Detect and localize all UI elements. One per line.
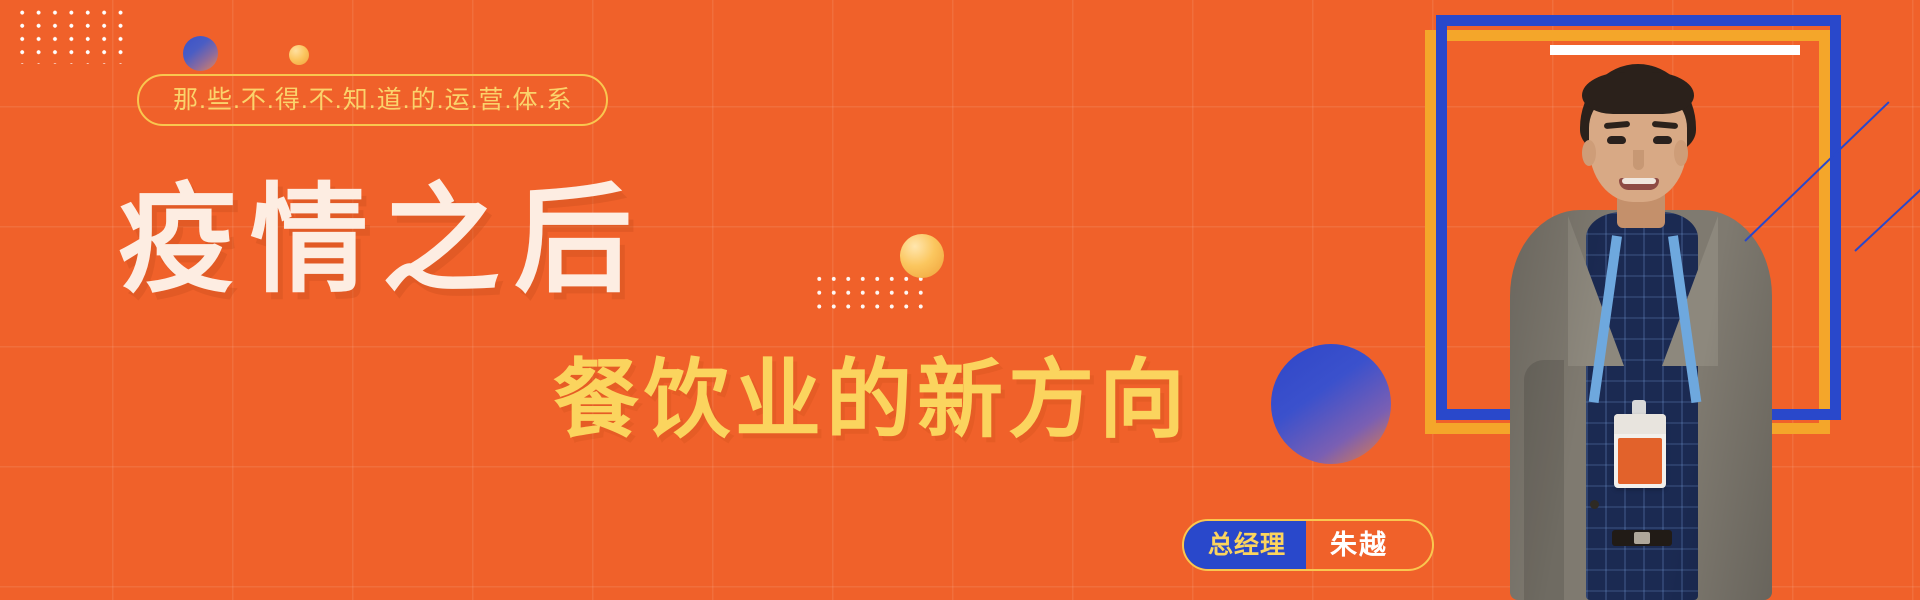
gradient-sphere-yellow-small [289, 45, 309, 65]
speaker-portrait [1462, 60, 1822, 600]
id-card-body [1618, 438, 1662, 484]
id-card-header [1614, 414, 1666, 434]
diagonal-line-upper [1854, 168, 1920, 251]
gradient-sphere-blue-small [183, 36, 218, 71]
portrait-teeth [1622, 178, 1656, 184]
portrait-ear-left [1582, 140, 1596, 166]
page-subtitle: 餐饮业的新方向 [553, 357, 1190, 443]
portrait-eye-left [1607, 136, 1626, 144]
portrait-belt-buckle [1634, 532, 1650, 544]
gradient-sphere-yellow-medium [900, 234, 944, 278]
portrait-eye-right [1653, 136, 1672, 144]
portrait-nose [1633, 150, 1644, 170]
portrait-id-card [1614, 414, 1666, 488]
portrait-hair-fringe [1582, 72, 1694, 114]
dot-matrix-icon-top-left [14, 6, 132, 64]
portrait-arm-shadow [1524, 360, 1564, 600]
eyebrow-pill: 那.些.不.得.不.知.道.的.运.营.体.系 [137, 74, 608, 126]
speaker-badge: 总经理 朱越 [1182, 519, 1434, 571]
portrait-ear-right [1674, 140, 1688, 166]
speaker-photo-composition [1400, 0, 1920, 600]
eyebrow-label: 那.些.不.得.不.知.道.的.运.营.体.系 [173, 88, 572, 113]
page-title: 疫情之后 [118, 182, 646, 300]
speaker-role: 总经理 [1184, 521, 1306, 569]
accent-bar-white [1550, 45, 1800, 55]
gradient-sphere-blue-large [1271, 344, 1391, 464]
promo-banner: 那.些.不.得.不.知.道.的.运.营.体.系 疫情之后 餐饮业的新方向 总经理… [0, 0, 1920, 600]
portrait-mouth [1619, 178, 1659, 190]
portrait-jacket-button [1590, 500, 1599, 509]
dot-matrix-icon-middle [812, 272, 928, 314]
